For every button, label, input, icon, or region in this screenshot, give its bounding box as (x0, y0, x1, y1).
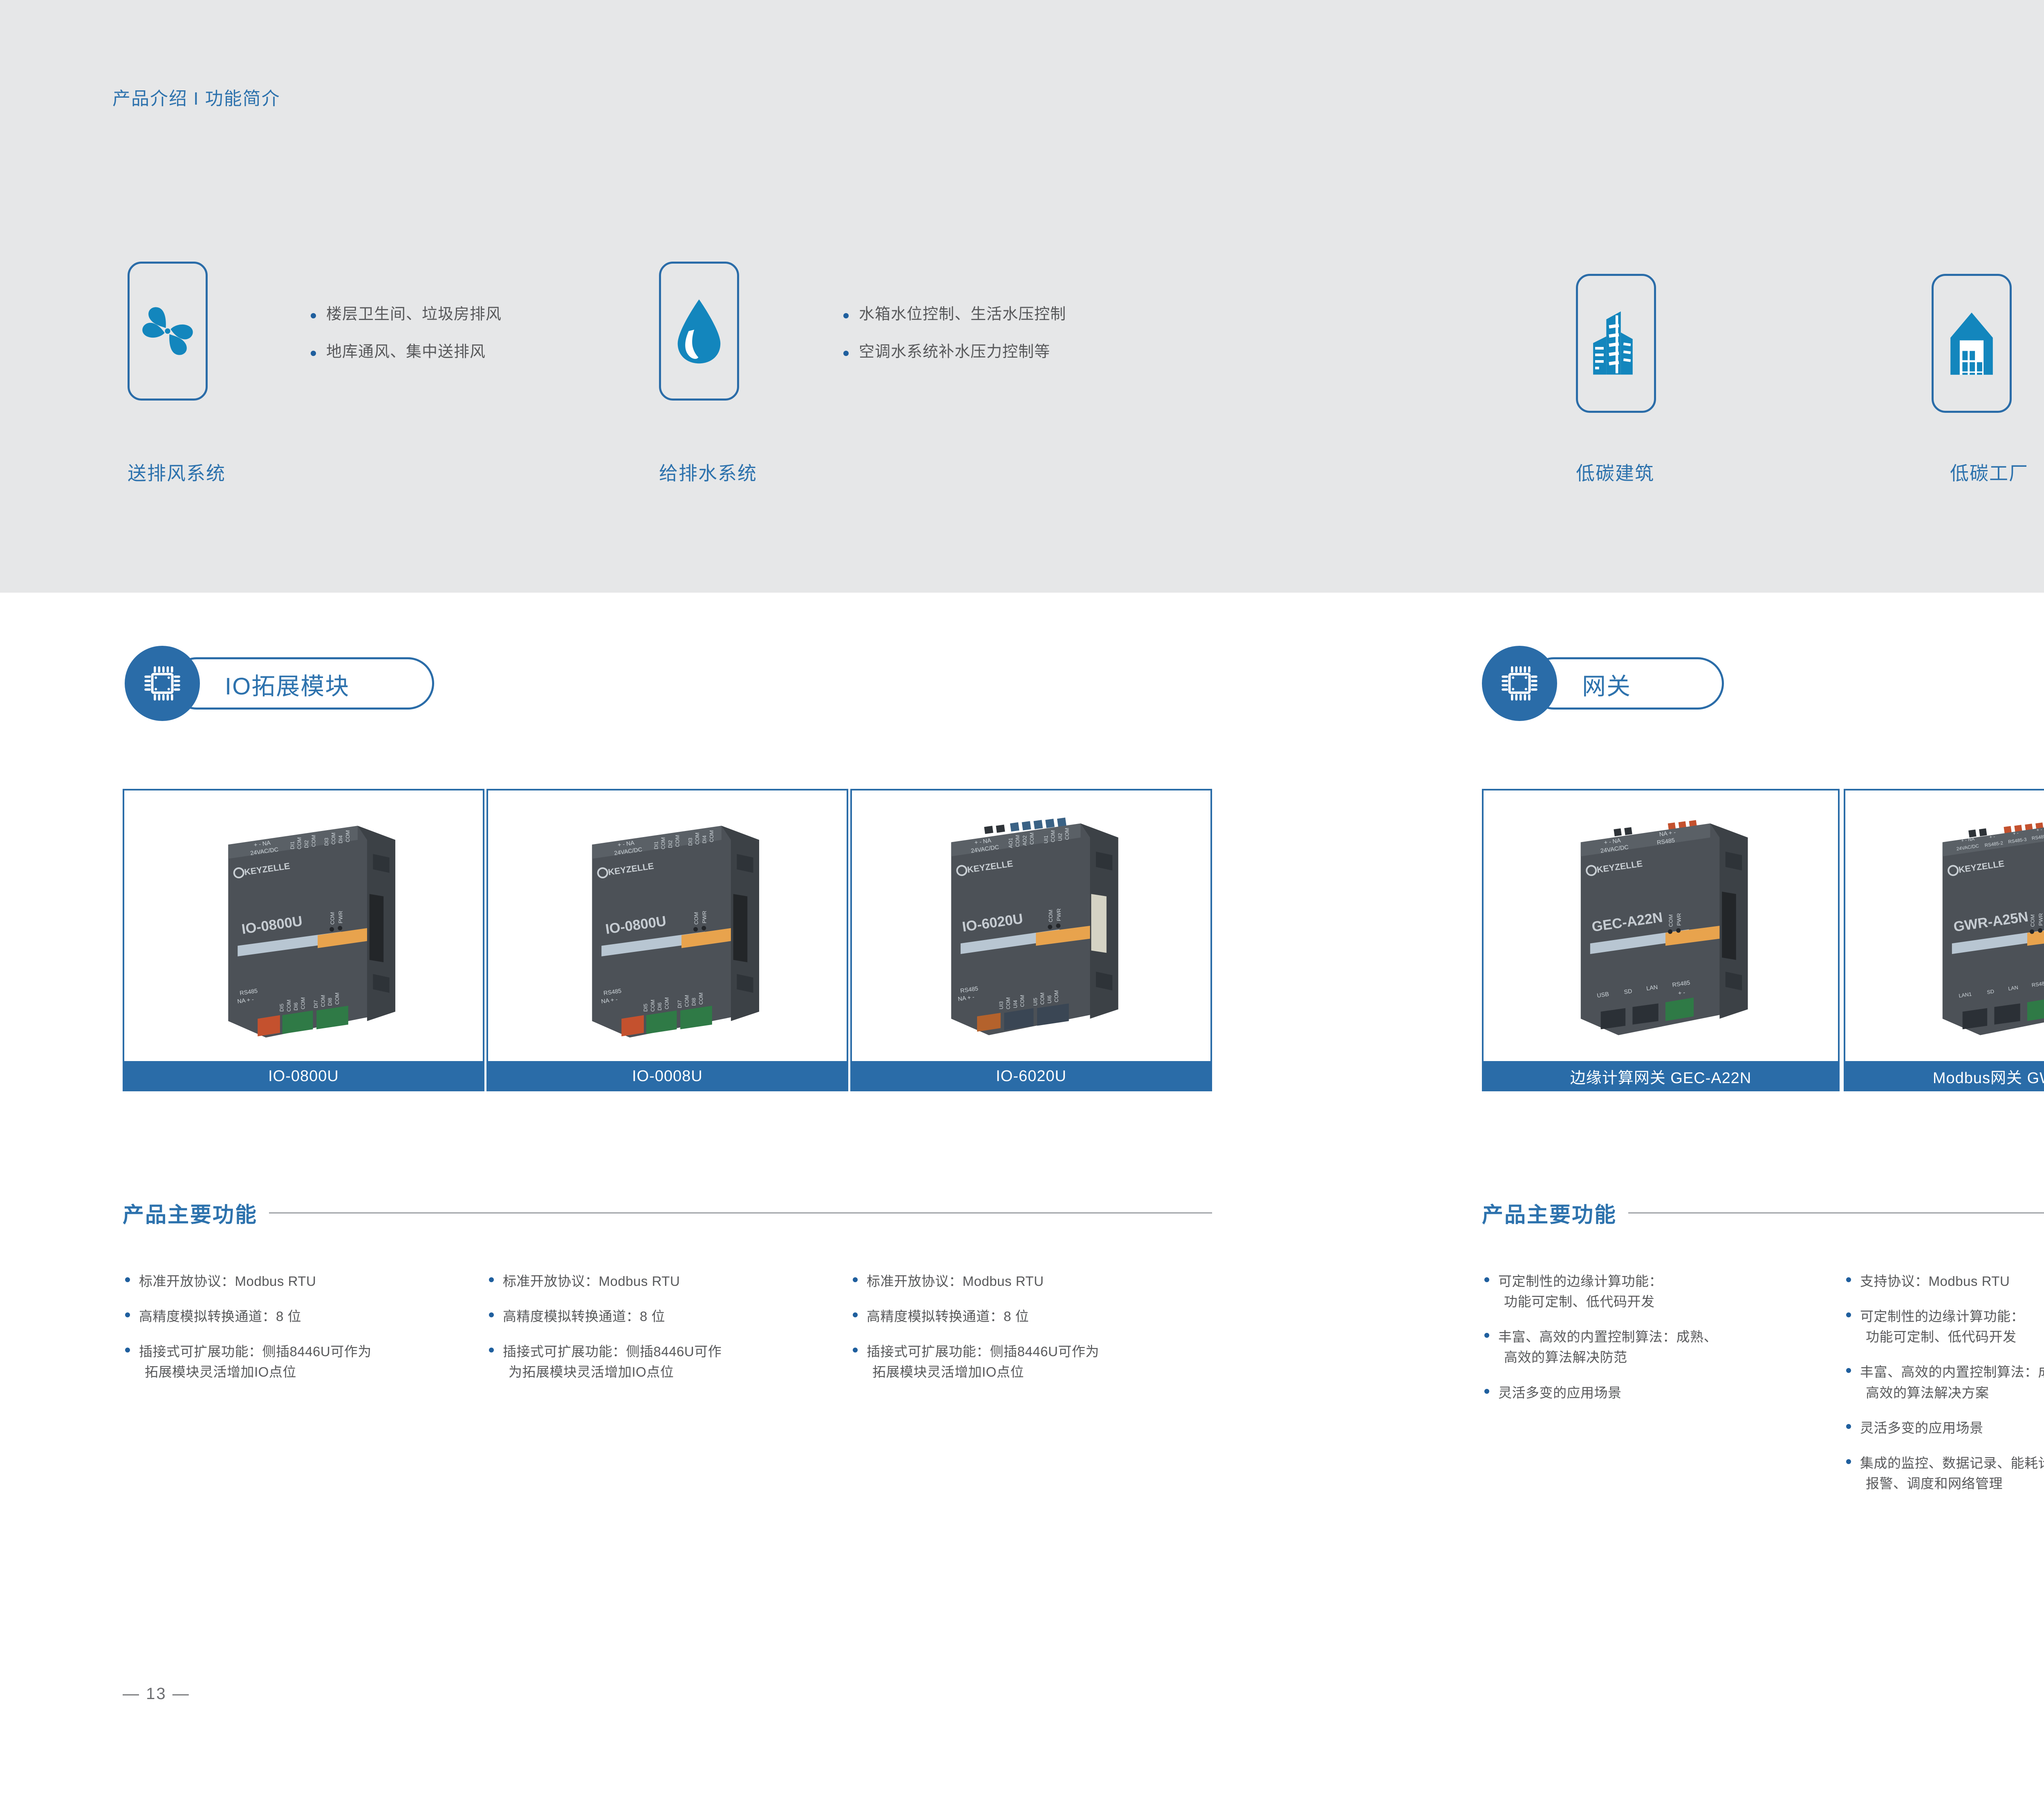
svg-text:COM: COM (661, 837, 666, 849)
feature-text: 标准开放协议：Modbus RTU (139, 1274, 316, 1289)
feature-column: 支持协议：Modbus RTU 可定制性的边缘计算功能： 功能可定制、低代码开发… (1844, 1271, 2044, 1509)
fan-bullet-list: 楼层卫生间、垃圾房排风 地库通风、集中送排风 (307, 306, 502, 381)
features-heading-io: 产品主要功能 (123, 1198, 1212, 1228)
svg-text:COM: COM (1020, 995, 1025, 1007)
feature-text-cont: 功能可定制、低代码开发 (1860, 1327, 2044, 1347)
svg-text:DI1: DI1 (289, 841, 295, 849)
svg-text:DI8: DI8 (327, 998, 333, 1006)
svg-text:COM: COM (320, 995, 326, 1007)
svg-text:COM: COM (675, 835, 680, 847)
feature-item: 插接式可扩展功能：侧插8446U可作为 拓展模块灵活增加IO点位 (850, 1341, 1194, 1382)
feature-text: 高精度模拟转换通道：8 位 (503, 1309, 665, 1324)
svg-text:UI6: UI6 (1047, 995, 1052, 1003)
svg-text:COM: COM (2029, 914, 2035, 927)
device-illustration-io-6020u: IO-6020U KEYZELLE + - NA 24VAC/DC AO1 CO… (852, 790, 1210, 1061)
feature-text: 灵活多变的应用场景 (1498, 1385, 1622, 1400)
svg-text:+ -: + - (1678, 990, 1685, 997)
office-building-icon-frame (1576, 274, 1656, 413)
svg-text:PWR: PWR (337, 911, 343, 923)
svg-text:COM: COM (664, 997, 670, 1010)
device-illustration-gwr-a25n: GWR-A25N KEYZELLE + - NA 24VAC/DC + - RS… (1845, 790, 2044, 1061)
svg-text:+ -: + - (1989, 834, 1995, 840)
feature-text: 插接式可扩展功能：侧插8446U可作 (503, 1344, 722, 1359)
svg-text:DI2: DI2 (304, 840, 309, 848)
svg-text:COM: COM (1047, 909, 1053, 922)
svg-text:COM: COM (1015, 835, 1021, 847)
product-photo: IO-0800U KEYZELLE + - NA 24VAC/DC DI1 CO… (486, 789, 848, 1061)
product-caption: 边缘计算网关 GEC-A22N (1482, 1061, 1840, 1091)
heading-rule (269, 1212, 1212, 1214)
product-photo: IO-6020U KEYZELLE + - NA 24VAC/DC AO1 CO… (850, 789, 1212, 1061)
water-bullet-list: 水箱水位控制、生活水压控制 空调水系统补水压力控制等 (840, 306, 1066, 381)
svg-text:DI5: DI5 (279, 1003, 285, 1012)
device-illustration-gec-a22n: GEC-A22N KEYZELLE + - NA 24VAC/DC NA + -… (1484, 790, 1838, 1061)
svg-text:PWR: PWR (701, 911, 707, 923)
svg-text:DI3: DI3 (688, 838, 693, 846)
svg-text:DI1: DI1 (653, 841, 659, 849)
running-head-left: 产品介绍 I 功能简介 (112, 84, 280, 110)
feature-item: 插接式可扩展功能：侧插8446U可作为 拓展模块灵活增加IO点位 (123, 1341, 466, 1382)
feature-text: 丰富、高效的内置控制算法：成熟、 (1860, 1364, 2044, 1379)
product-card[interactable]: IO-6020U KEYZELLE + - NA 24VAC/DC AO1 CO… (850, 789, 1212, 1091)
pill-title: 网关 (1582, 667, 1631, 701)
svg-text:COM: COM (1054, 990, 1060, 1003)
svg-text:DI7: DI7 (677, 1000, 683, 1008)
scenario-label-factory: 低碳工厂 (1950, 459, 2028, 486)
feature-column: 可定制性的边缘计算功能： 功能可定制、低代码开发 丰富、高效的内置控制算法：成熟… (1482, 1271, 1817, 1418)
svg-text:DI4: DI4 (702, 835, 707, 844)
svg-text:UI2: UI2 (1057, 833, 1063, 841)
svg-text:COM: COM (286, 1000, 292, 1012)
svg-text:AO1: AO1 (1008, 838, 1013, 848)
product-photo: GEC-A22N KEYZELLE + - NA 24VAC/DC NA + -… (1482, 789, 1840, 1061)
svg-text:PWR: PWR (2037, 913, 2044, 926)
svg-text:COM: COM (1040, 992, 1045, 1005)
product-caption: IO-6020U (850, 1061, 1212, 1091)
product-caption: IO-0800U (123, 1061, 484, 1091)
features-title: 产品主要功能 (1482, 1198, 1617, 1228)
svg-text:DI6: DI6 (293, 1003, 299, 1011)
svg-text:SD: SD (1624, 988, 1633, 996)
feature-text-cont: 拓展模块灵活增加IO点位 (867, 1362, 1194, 1382)
svg-text:COM: COM (698, 992, 704, 1005)
application-label-fan: 送排风系统 (128, 459, 226, 486)
fan-icon (137, 300, 198, 362)
top-gray-band (0, 0, 2044, 593)
svg-text:COM: COM (331, 833, 336, 845)
features-title: 产品主要功能 (123, 1198, 258, 1228)
svg-text:PWR: PWR (1676, 913, 1682, 926)
product-card[interactable]: IO-0800U KEYZELLE + - NA 24VAC/DC DI1 CO… (123, 789, 484, 1091)
feature-item: 标准开放协议：Modbus RTU (123, 1271, 466, 1292)
chip-icon (1497, 661, 1542, 706)
feature-item: 高精度模拟转换通道：8 位 (123, 1306, 466, 1327)
feature-text: 可定制性的边缘计算功能： (1860, 1309, 2024, 1324)
feature-text-cont: 报警、调度和网络管理 (1860, 1473, 2044, 1494)
svg-text:COM: COM (684, 995, 690, 1007)
svg-text:COM: COM (297, 837, 303, 849)
feature-item: 集成的监控、数据记录、能耗计量、 报警、调度和网络管理 (1844, 1453, 2044, 1494)
feature-item: 标准开放协议：Modbus RTU (850, 1271, 1194, 1292)
svg-text:UI4: UI4 (1013, 1000, 1018, 1008)
svg-text:COM: COM (329, 912, 335, 925)
feature-text-cont: 为拓展模块灵活增加IO点位 (503, 1362, 830, 1382)
svg-text:PWR: PWR (1056, 909, 1062, 921)
water-drop-icon (675, 296, 723, 366)
feature-text-cont: 功能可定制、低代码开发 (1498, 1292, 1817, 1312)
office-building-icon (1587, 309, 1646, 378)
feature-text: 标准开放协议：Modbus RTU (503, 1274, 680, 1289)
device-illustration-io-0008u: IO-0800U KEYZELLE + - NA 24VAC/DC DI1 CO… (488, 790, 847, 1061)
feature-text: 标准开放协议：Modbus RTU (867, 1274, 1044, 1289)
feature-text: 高精度模拟转换通道：8 位 (139, 1309, 301, 1324)
feature-item: 可定制性的边缘计算功能： 功能可定制、低代码开发 (1844, 1306, 2044, 1347)
svg-text:COM: COM (693, 912, 699, 925)
feature-column: 标准开放协议：Modbus RTU 高精度模拟转换通道：8 位 插接式可扩展功能… (850, 1271, 1194, 1397)
svg-text:UI5: UI5 (1033, 998, 1038, 1006)
svg-text:SD: SD (1987, 989, 1995, 995)
feature-text: 丰富、高效的内置控制算法：成熟、 (1498, 1329, 1717, 1344)
heading-rule (1628, 1212, 2044, 1214)
pill-title: IO拓展模块 (225, 667, 350, 701)
product-caption: IO-0008U (486, 1061, 848, 1091)
product-card[interactable]: IO-0800U KEYZELLE + - NA 24VAC/DC DI1 CO… (486, 789, 848, 1091)
product-card[interactable]: GEC-A22N KEYZELLE + - NA 24VAC/DC NA + -… (1482, 789, 1840, 1091)
fan-icon-frame (128, 262, 208, 401)
svg-text:UI1: UI1 (1043, 835, 1049, 844)
feature-text: 集成的监控、数据记录、能耗计量、 (1860, 1455, 2044, 1471)
product-photo: IO-0800U KEYZELLE + - NA 24VAC/DC DI1 CO… (123, 789, 484, 1061)
feature-text-cont: 高效的算法解决方案 (1860, 1383, 2044, 1403)
factory-icon (1945, 309, 1999, 378)
features-heading-gw: 产品主要功能 (1482, 1198, 2044, 1228)
svg-text:AO2: AO2 (1022, 835, 1028, 846)
svg-text:COM: COM (1029, 833, 1035, 845)
feature-column: 标准开放协议：Modbus RTU 高精度模拟转换通道：8 位 插接式可扩展功能… (486, 1271, 830, 1397)
feature-item: 支持协议：Modbus RTU (1844, 1271, 2044, 1292)
svg-text:COM: COM (695, 833, 700, 845)
feature-text: 支持协议：Modbus RTU (1860, 1274, 2010, 1289)
feature-text: 插接式可扩展功能：侧插8446U可作为 (867, 1344, 1099, 1359)
feature-item: 高精度模拟转换通道：8 位 (850, 1306, 1194, 1327)
svg-text:+ -: + - (2036, 827, 2042, 833)
feature-item: 可定制性的边缘计算功能： 功能可定制、低代码开发 (1482, 1271, 1817, 1312)
svg-text:DI8: DI8 (691, 998, 697, 1006)
product-card[interactable]: GWR-A25N KEYZELLE + - NA 24VAC/DC + - RS… (1844, 789, 2044, 1091)
svg-text:DI4: DI4 (338, 835, 343, 844)
feature-item: 丰富、高效的内置控制算法：成熟、 高效的算法解决防范 (1482, 1327, 1817, 1368)
list-item: 地库通风、集中送排风 (307, 343, 502, 361)
svg-text:COM: COM (1050, 830, 1056, 842)
svg-text:+ -: + - (2013, 831, 2019, 837)
feature-text-cont: 高效的算法解决防范 (1498, 1347, 1817, 1368)
scenario-label-building: 低碳建筑 (1576, 459, 1654, 486)
svg-text:COM: COM (1006, 997, 1011, 1010)
svg-text:DI7: DI7 (313, 1000, 319, 1008)
svg-text:COM: COM (650, 1000, 656, 1012)
feature-text-cont: 拓展模块灵活增加IO点位 (139, 1362, 466, 1382)
product-photo: GWR-A25N KEYZELLE + - NA 24VAC/DC + - RS… (1844, 789, 2044, 1061)
page-number-left: — 13 — (123, 1685, 190, 1703)
svg-text:COM: COM (345, 830, 351, 842)
chip-icon (139, 661, 185, 706)
svg-text:DI2: DI2 (668, 840, 673, 848)
feature-text: 灵活多变的应用场景 (1860, 1420, 1983, 1435)
list-item: 空调水系统补水压力控制等 (840, 343, 1066, 361)
section-pill-io-modules: IO拓展模块 (125, 646, 435, 721)
feature-item: 高精度模拟转换通道：8 位 (486, 1306, 830, 1327)
svg-text:DI5: DI5 (643, 1003, 649, 1012)
feature-item: 灵活多变的应用场景 (1844, 1418, 2044, 1438)
feature-item: 标准开放协议：Modbus RTU (486, 1271, 830, 1292)
feature-text: 可定制性的边缘计算功能： (1498, 1274, 1663, 1289)
svg-text:COM: COM (300, 997, 306, 1010)
feature-item: 插接式可扩展功能：侧插8446U可作 为拓展模块灵活增加IO点位 (486, 1341, 830, 1382)
feature-text: 插接式可扩展功能：侧插8446U可作为 (139, 1344, 372, 1359)
svg-text:COM: COM (1667, 914, 1674, 927)
device-illustration-io-0800u: IO-0800U KEYZELLE + - NA 24VAC/DC DI1 CO… (124, 790, 483, 1061)
feature-item: 丰富、高效的内置控制算法：成熟、 高效的算法解决方案 (1844, 1362, 2044, 1403)
factory-icon-frame (1932, 274, 2012, 413)
svg-text:COM: COM (311, 835, 316, 847)
svg-text:UI3: UI3 (998, 1001, 1004, 1010)
feature-column: 标准开放协议：Modbus RTU 高精度模拟转换通道：8 位 插接式可扩展功能… (123, 1271, 466, 1397)
svg-text:DI6: DI6 (657, 1003, 663, 1011)
list-item: 楼层卫生间、垃圾房排风 (307, 306, 502, 324)
feature-text: 高精度模拟转换通道：8 位 (867, 1309, 1029, 1324)
chip-icon-badge (1482, 646, 1557, 721)
section-pill-gateways: 网关 (1482, 646, 1727, 721)
feature-item: 灵活多变的应用场景 (1482, 1383, 1817, 1403)
water-drop-icon-frame (659, 262, 739, 401)
svg-text:DI3: DI3 (324, 838, 329, 846)
svg-text:COM: COM (334, 992, 340, 1005)
product-caption: Modbus网关 GWR-A25N (1844, 1061, 2044, 1091)
list-item: 水箱水位控制、生活水压控制 (840, 306, 1066, 324)
chip-icon-badge (125, 646, 200, 721)
svg-text:COM: COM (1065, 828, 1070, 840)
svg-text:COM: COM (709, 830, 715, 842)
application-label-water: 给排水系统 (659, 459, 757, 486)
brochure-spread: 产品介绍 I 功能简介 产品介绍 I 功能简介 楼层卫生间、垃圾房排风 地库通风… (0, 0, 2044, 1798)
